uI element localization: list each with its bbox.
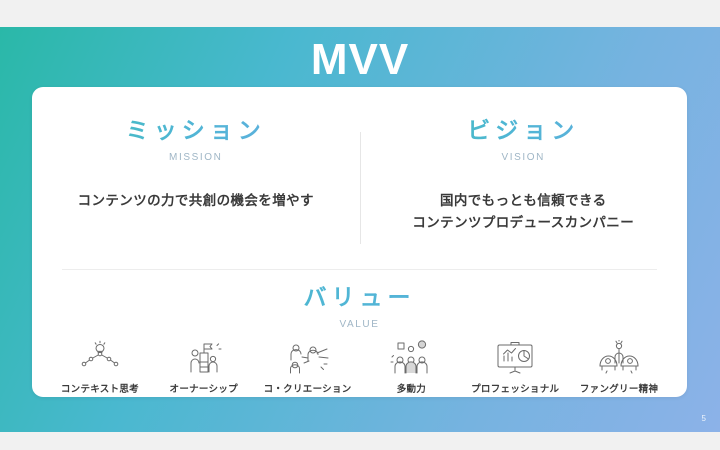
value-item: コンテキスト思考	[48, 335, 152, 397]
value-item-list: コンテキスト思考 オーナーシップ	[48, 335, 671, 397]
value-heading-jp: バリュー	[32, 282, 687, 312]
page-number: 5	[702, 414, 706, 424]
network-idea-icon	[48, 335, 152, 379]
vision-line: 国内でもっとも信頼できる	[360, 190, 688, 212]
vision-heading-en: VISION	[360, 150, 688, 166]
value-item-label: プロフェッショナル	[463, 383, 567, 397]
vision-body: 国内でもっとも信頼できる コンテンツプロデュースカンパニー	[360, 190, 688, 234]
value-item-label: コンテキスト思考	[48, 383, 152, 397]
value-item: 多動力	[359, 335, 463, 397]
content-card: ミッション MISSION コンテンツの力で共創の機会を増やす ビジョン VIS…	[32, 87, 687, 397]
vision-heading-jp: ビジョン	[360, 115, 688, 145]
people-group-icon	[359, 335, 463, 379]
vision-line: コンテンツプロデュースカンパニー	[360, 212, 688, 234]
value-heading-block: バリュー VALUE	[32, 282, 687, 333]
collaboration-icon	[256, 335, 360, 379]
value-item-label: ファングリー精神	[567, 383, 671, 397]
value-item: プロフェッショナル	[463, 335, 567, 397]
value-item: ファングリー精神	[567, 335, 671, 397]
vision-block: ビジョン VISION 国内でもっとも信頼できる コンテンツプロデュースカンパニ…	[360, 87, 688, 269]
people-desks-icon	[567, 335, 671, 379]
page-title: MVV	[0, 32, 720, 88]
mission-heading-jp: ミッション	[32, 115, 360, 145]
mission-vision-row: ミッション MISSION コンテンツの力で共創の機会を増やす ビジョン VIS…	[32, 87, 687, 269]
mission-line: コンテンツの力で共創の機会を増やす	[32, 190, 360, 212]
mission-heading-en: MISSION	[32, 150, 360, 166]
value-heading-en: VALUE	[32, 317, 687, 333]
vertical-divider	[360, 132, 361, 244]
mission-block: ミッション MISSION コンテンツの力で共創の機会を増やす	[32, 87, 360, 269]
slide-canvas: MVV ミッション MISSION コンテンツの力で共創の機会を増やす ビジョン…	[0, 27, 720, 432]
value-item: コ・クリエーション	[256, 335, 360, 397]
value-item: オーナーシップ	[152, 335, 256, 397]
horizontal-divider	[62, 269, 657, 270]
value-item-label: コ・クリエーション	[256, 383, 360, 397]
value-item-label: オーナーシップ	[152, 383, 256, 397]
mission-body: コンテンツの力で共創の機会を増やす	[32, 190, 360, 212]
presentation-chart-icon	[463, 335, 567, 379]
value-item-label: 多動力	[359, 383, 463, 397]
people-flag-icon	[152, 335, 256, 379]
